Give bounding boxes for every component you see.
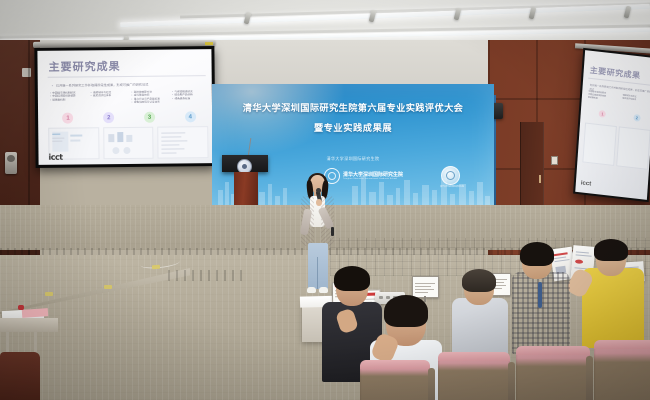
door-handle-icon[interactable]: [539, 175, 541, 183]
slide-figure: [103, 127, 154, 160]
floor-tape-marker: [152, 265, 160, 270]
side-table: [0, 318, 58, 332]
presenter-jeans: [308, 243, 328, 289]
slide-column: 气候投融资研究 碳金融产品创新 绿色债券标准: [172, 90, 208, 104]
presentation-clicker-icon: [331, 227, 334, 236]
presenter-shoe: [319, 287, 328, 293]
secondary-slide-logo: icct: [581, 180, 592, 187]
audience-member-4-hair: [520, 242, 554, 266]
secondary-slide-surface: 主要研究成果 已开展一系列研究工作并取得阶段性成果，形成可推广的研究范式 中国碳…: [575, 50, 650, 200]
slide-figure-row: [48, 126, 208, 160]
audience-member-3-hair: [462, 269, 496, 292]
name-placard: [412, 276, 439, 298]
seat-armrest: [586, 356, 593, 400]
slide-logo: icct: [48, 153, 62, 162]
main-projection-screen: 主要研究成果 已开展一系列研究工作并取得阶段性成果，形成可推广的研究范式 中国碳…: [34, 46, 215, 168]
floor-curb-block: [168, 270, 248, 281]
floor-tape-marker: [104, 285, 112, 289]
slide-lead-bullet: 已开展一系列研究工作并取得阶段性成果，形成可推广的研究范式: [52, 82, 149, 88]
slide-badge-1: 1: [62, 113, 73, 124]
slide-number-badges: 1 2 3 4: [50, 111, 208, 124]
microphone-head-icon: [316, 188, 321, 193]
slide-badge-1: 1: [599, 110, 606, 118]
binder-clip-icon: [18, 305, 24, 310]
slide-bullet: 绿色债券标准: [172, 97, 208, 101]
slide-column: 中国碳市场机制研究 中国区域碳排放核算 碳普惠机制: [50, 91, 86, 105]
slide-badge-4: 4: [185, 111, 196, 122]
slide-badge-3: 3: [144, 112, 155, 123]
conference-photo: 主要研究成果 已开展一系列研究工作并取得阶段性成果，形成可推广的研究范式 中国碳…: [0, 0, 650, 400]
slide-column: 碳排放核算方法 减污降碳协同 重点行业与产品碳标准 绿色供应链与认证体系: [131, 91, 167, 105]
backdrop-headline-primary: 清华大学深圳国际研究生院第六届专业实践评优大会: [212, 100, 494, 114]
lanyard-icon: [538, 282, 542, 308]
slide-title-rule: [48, 75, 206, 78]
slide-badge-2: 2: [633, 114, 640, 122]
wall-phone-icon[interactable]: [5, 152, 17, 174]
slide-column: 低碳城市与社区 碳足迹评估体系: [91, 91, 127, 105]
foreground-chair[interactable]: [0, 352, 40, 400]
slide-bullet: 绿色供应链与认证体系: [131, 101, 167, 105]
floor-tape-marker: [45, 292, 53, 296]
slide-bullet-columns: 中国碳市场机制研究 中国区域碳排放核算 碳普惠机制 低碳城市与社区 碳足迹评估体…: [50, 90, 208, 105]
slide-title: 主要研究成果: [48, 58, 120, 75]
slide-bullet: 碳足迹评估体系: [91, 94, 127, 98]
auditorium-seat[interactable]: [594, 340, 650, 400]
audience-area: [330, 240, 650, 400]
auditorium-seat[interactable]: [438, 352, 510, 400]
secondary-figure-row: [582, 122, 650, 169]
slide-figure: [582, 122, 617, 166]
secondary-number-badges: 1 2: [587, 109, 650, 123]
conference-seal-caption: 清华大学深圳国际研究生院: [434, 185, 470, 188]
audience-member-5-hair: [594, 239, 628, 261]
audience-member-2-hair: [384, 295, 428, 327]
wall-switch-plate[interactable]: [551, 156, 558, 165]
backdrop-headline-secondary: 暨专业实践成果展: [212, 120, 494, 134]
seat-armrest: [508, 362, 515, 400]
slide-figure: [158, 126, 209, 159]
auditorium-seat[interactable]: [360, 360, 430, 400]
slide-figure: [616, 126, 650, 170]
slide-bullet: 碳普惠机制: [50, 98, 86, 102]
presenter-hand: [316, 199, 322, 206]
seat-armrest: [428, 368, 435, 400]
presenter-shoe: [307, 287, 316, 293]
audience-member-1-hair: [334, 266, 370, 291]
conference-seal-icon: [441, 166, 460, 185]
auditorium-seat[interactable]: [516, 346, 590, 400]
slide-badge-2: 2: [103, 112, 114, 123]
wall-fixture-box: [22, 68, 31, 77]
university-lockup-en: Tsinghua Shenzhen International Graduate…: [343, 178, 403, 180]
slide-surface: 主要研究成果 已开展一系列研究工作并取得阶段性成果，形成可推广的研究范式 中国碳…: [37, 49, 212, 165]
secondary-projection-screen: 主要研究成果 已开展一系列研究工作并取得阶段性成果，形成可推广的研究范式 中国碳…: [573, 48, 650, 202]
